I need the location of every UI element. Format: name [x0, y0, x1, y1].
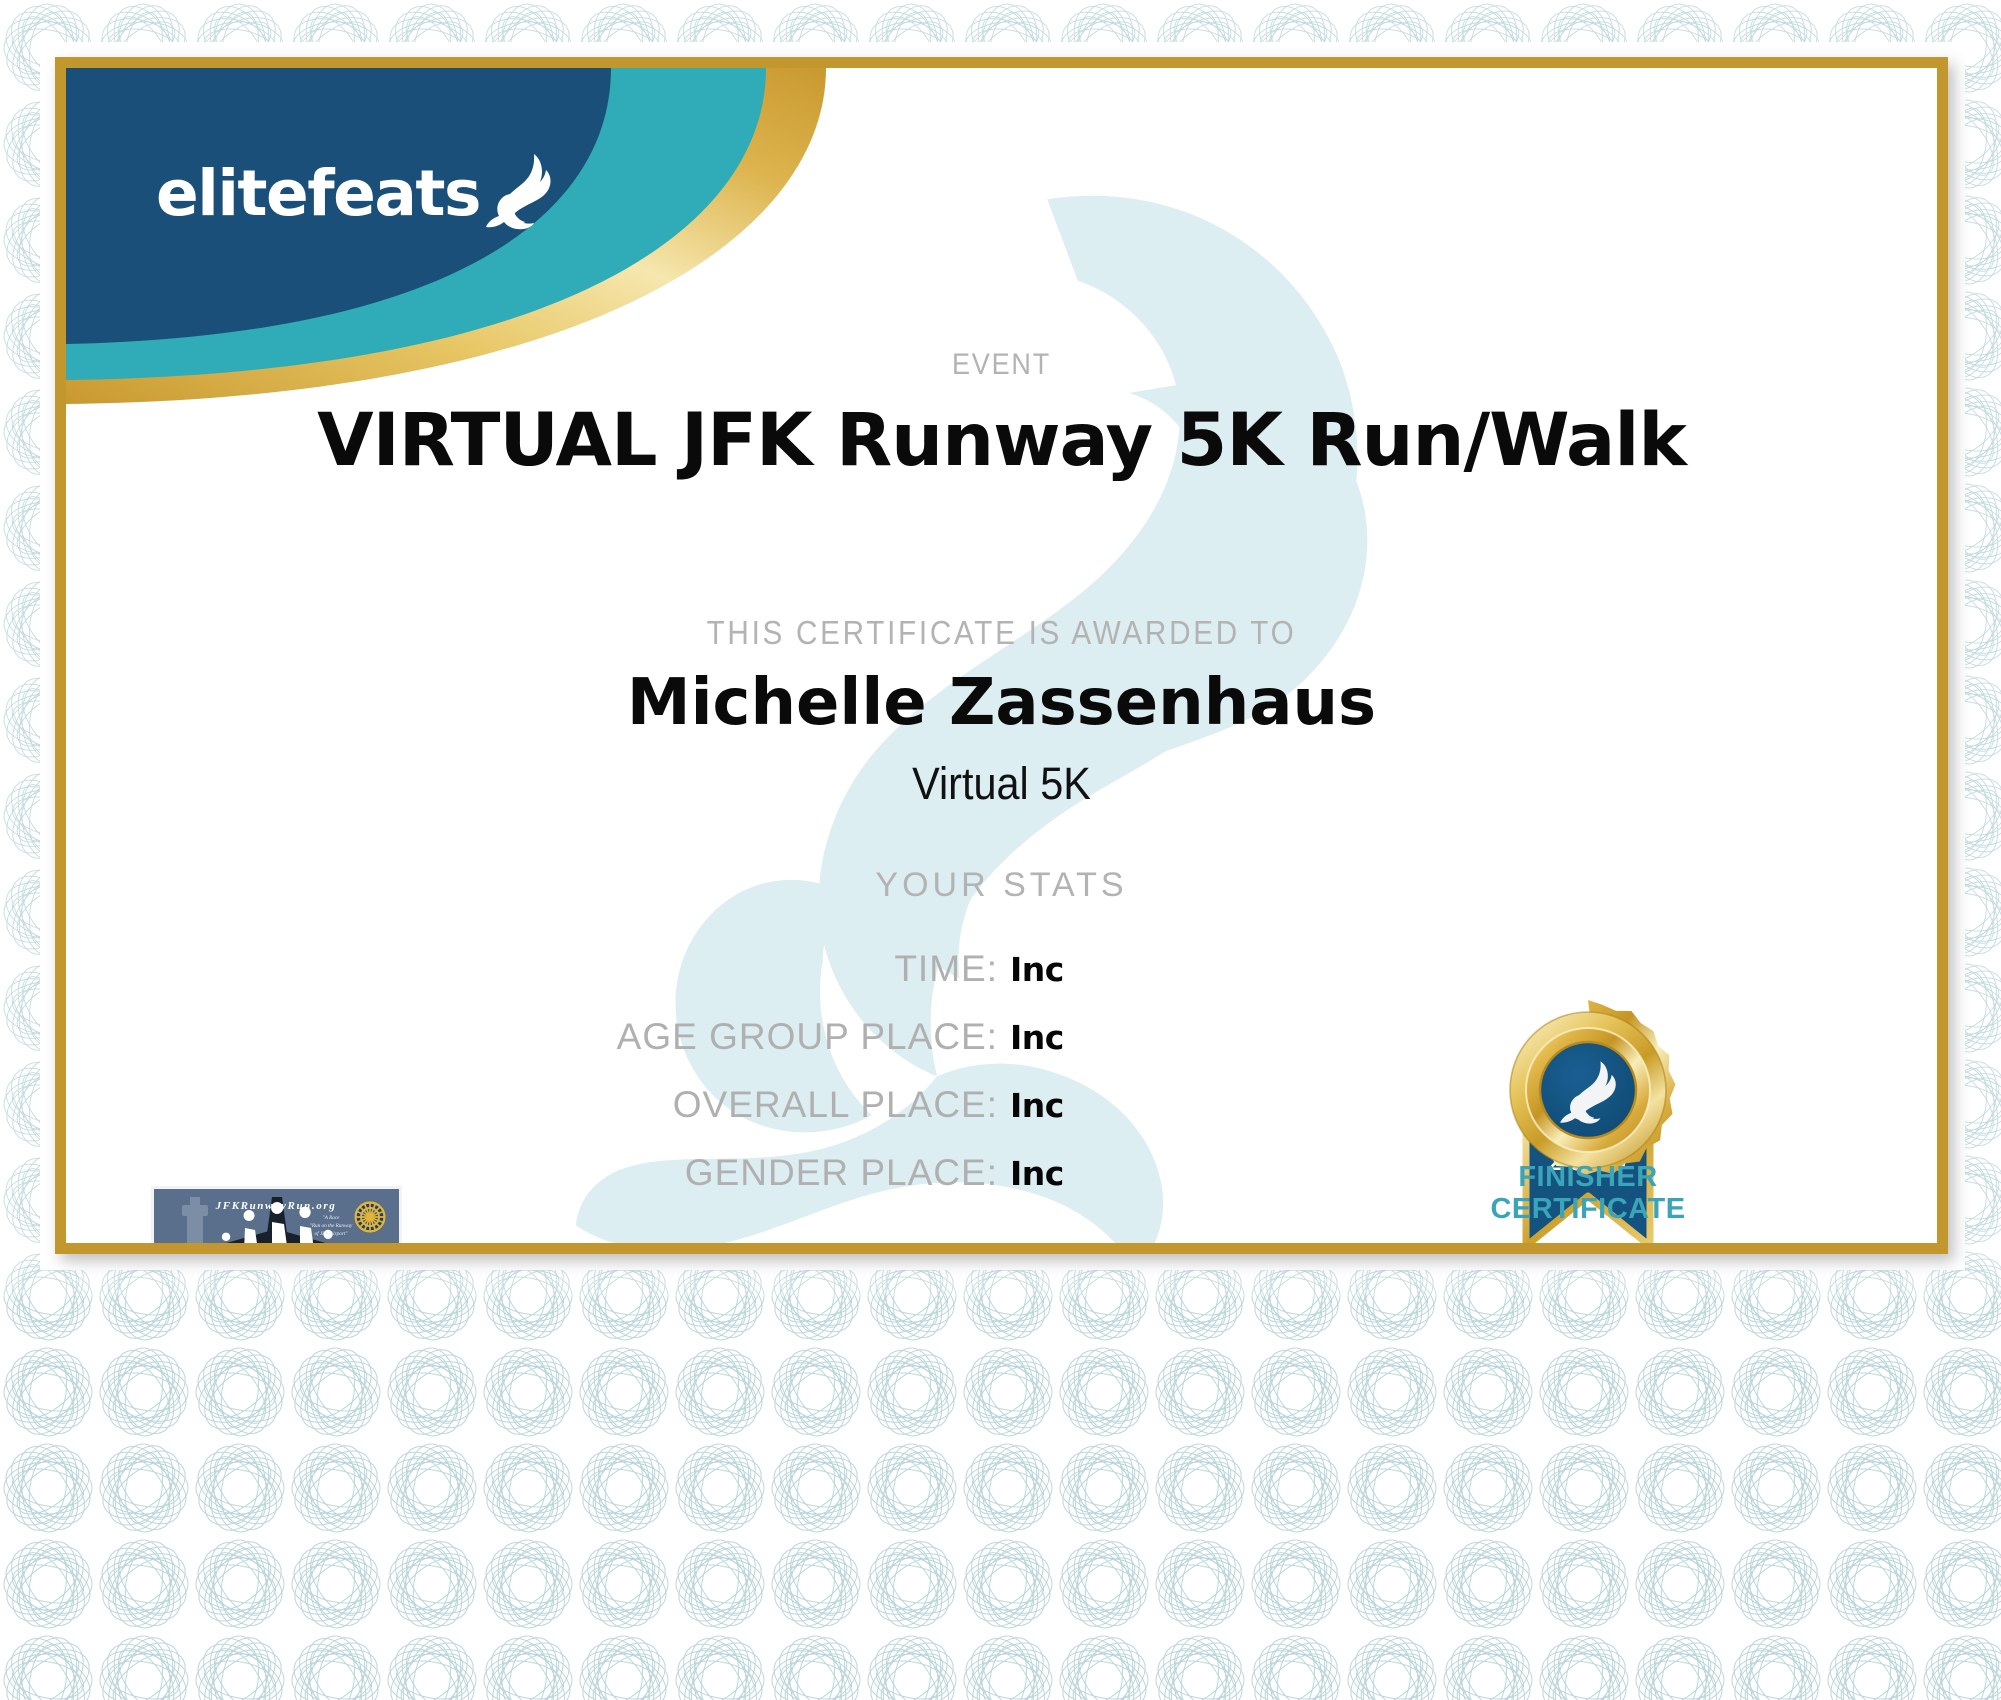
- stat-row-time: TIME: Inc: [66, 948, 1937, 997]
- sponsor-name: JFKRunwayRun.org: [215, 1200, 337, 1212]
- stat-value: Inc: [1010, 1086, 1064, 1125]
- event-label: EVENT: [160, 348, 1844, 382]
- badge-caption: FINISHER CERTIFICATE: [1438, 1161, 1738, 1226]
- stat-value: Inc: [1010, 1154, 1064, 1193]
- sponsor-tagline-line1: "A Race: [323, 1215, 341, 1221]
- rotary-wheel-icon: [354, 1201, 386, 1233]
- awarded-to-label: THIS CERTIFICATE IS AWARDED TO: [160, 614, 1844, 652]
- badge-caption-line1: FINISHER: [1438, 1161, 1738, 1193]
- certificate-gold-frame: elitefeats EVENT VIRTUAL JFK Runway 5K R…: [55, 57, 1948, 1254]
- elitefeats-logo: elitefeats: [156, 162, 556, 232]
- sponsor-tagline-line3: of JFK Airport": [315, 1230, 349, 1237]
- winged-foot-icon: [484, 152, 556, 232]
- stat-label: TIME:: [66, 948, 998, 990]
- stat-label: AGE GROUP PLACE:: [66, 1016, 998, 1058]
- event-title: VIRTUAL JFK Runway 5K Run/Walk: [66, 398, 1937, 483]
- sponsor-logo-jfk-runway-run: JFKRunwayRun.org "A Race "Run on the Run…: [151, 1186, 402, 1243]
- badge-caption-line2: CERTIFICATE: [1438, 1193, 1738, 1225]
- recipient-division: Virtual 5K: [141, 758, 1862, 810]
- certificate-body: elitefeats EVENT VIRTUAL JFK Runway 5K R…: [66, 68, 1937, 1243]
- certificate-page: elitefeats EVENT VIRTUAL JFK Runway 5K R…: [0, 0, 2001, 1700]
- stat-value: Inc: [1010, 1018, 1064, 1057]
- recipient-name: Michelle Zassenhaus: [66, 666, 1937, 740]
- sponsor-tagline-line2: "Run on the Runway: [310, 1223, 353, 1229]
- stat-value: Inc: [1010, 950, 1064, 989]
- elitefeats-logo-text: elitefeats: [156, 162, 480, 225]
- your-stats-label: YOUR STATS: [66, 866, 1937, 905]
- stat-label: OVERALL PLACE:: [66, 1084, 998, 1126]
